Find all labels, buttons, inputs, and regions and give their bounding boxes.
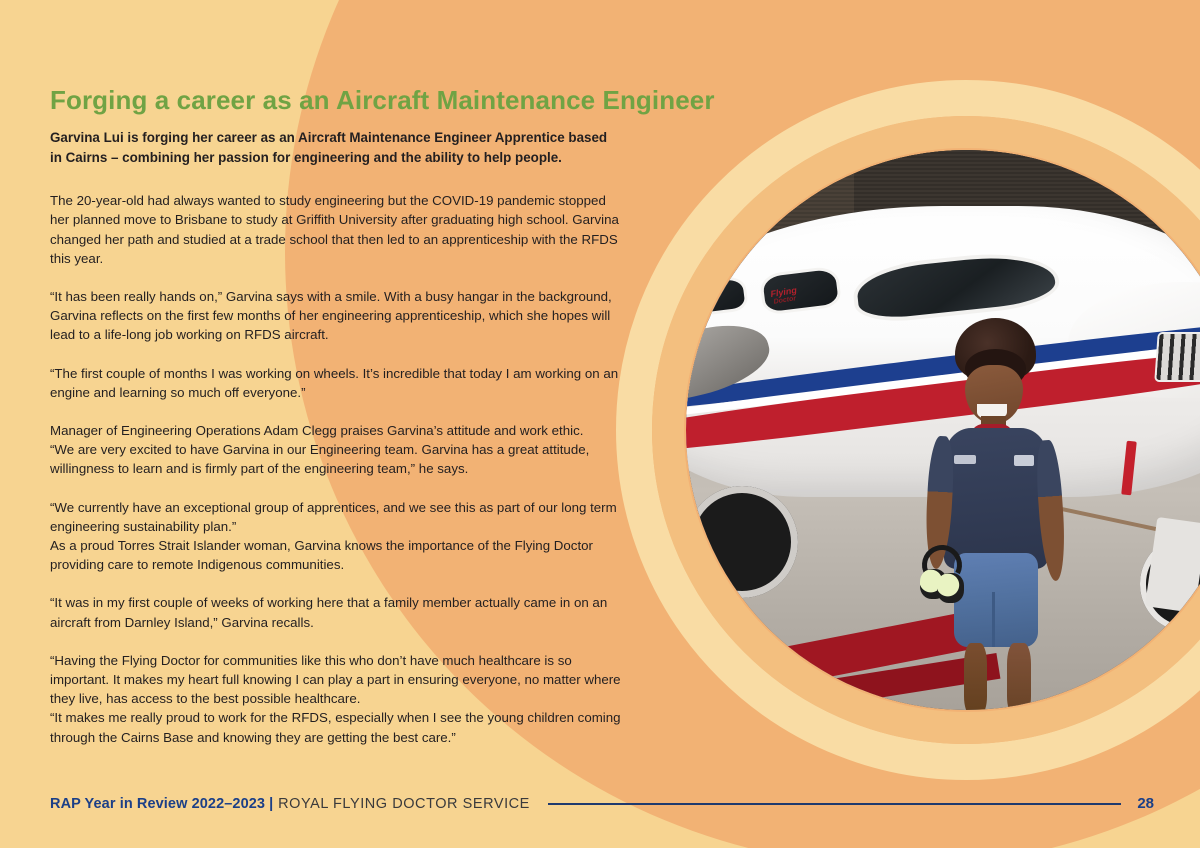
- navy-polo-shirt: [944, 428, 1048, 569]
- left-leg: [964, 643, 988, 710]
- article-paragraph: “It was in my first couple of weeks of w…: [50, 593, 622, 631]
- footer-report-title: RAP Year in Review 2022–2023: [50, 796, 265, 812]
- page-number: 28: [1137, 795, 1154, 812]
- feature-photo: ervice Flying Doctor: [686, 150, 1200, 710]
- person-garvina-lui: [910, 318, 1078, 710]
- article-paragraph: “The first couple of months I was workin…: [50, 364, 622, 402]
- polo-logo-left: [954, 455, 976, 464]
- right-leg: [1007, 643, 1031, 710]
- article-paragraph: “Having the Flying Doctor for communitie…: [50, 651, 622, 747]
- footer-separator: |: [269, 796, 273, 812]
- article-paragraph: The 20-year-old had always wanted to stu…: [50, 191, 622, 268]
- aircraft-wheel: [686, 486, 798, 598]
- document-page: ervice Flying Doctor: [0, 0, 1200, 848]
- denim-shorts: [954, 553, 1038, 647]
- ear-defenders: [920, 561, 966, 601]
- ear-defenders-cup: [937, 573, 964, 603]
- aircraft-side-window: [686, 278, 746, 314]
- article-paragraph: “It has been really hands on,” Garvina s…: [50, 287, 622, 345]
- photo-scene: ervice Flying Doctor: [686, 150, 1200, 710]
- footer-organisation: ROYAL FLYING DOCTOR SERVICE: [278, 796, 530, 812]
- article-paragraph: Manager of Engineering Operations Adam C…: [50, 421, 622, 479]
- page-title: Forging a career as an Aircraft Maintena…: [50, 85, 715, 116]
- article-body: Garvina Lui is forging her career as an …: [50, 128, 622, 747]
- fuselage-logo: Flying Doctor: [770, 286, 799, 307]
- page-footer: RAP Year in Review 2022–2023 | ROYAL FLY…: [50, 795, 1154, 812]
- aircraft-vent-grille: [1156, 334, 1200, 380]
- footer-rule: [548, 803, 1121, 805]
- article-lead: Garvina Lui is forging her career as an …: [50, 128, 622, 167]
- shorts-seam: [992, 592, 995, 647]
- aircraft-windshield: [855, 251, 1057, 321]
- polo-logo-right: [1014, 455, 1034, 466]
- article-paragraph: “We currently have an exceptional group …: [50, 498, 622, 575]
